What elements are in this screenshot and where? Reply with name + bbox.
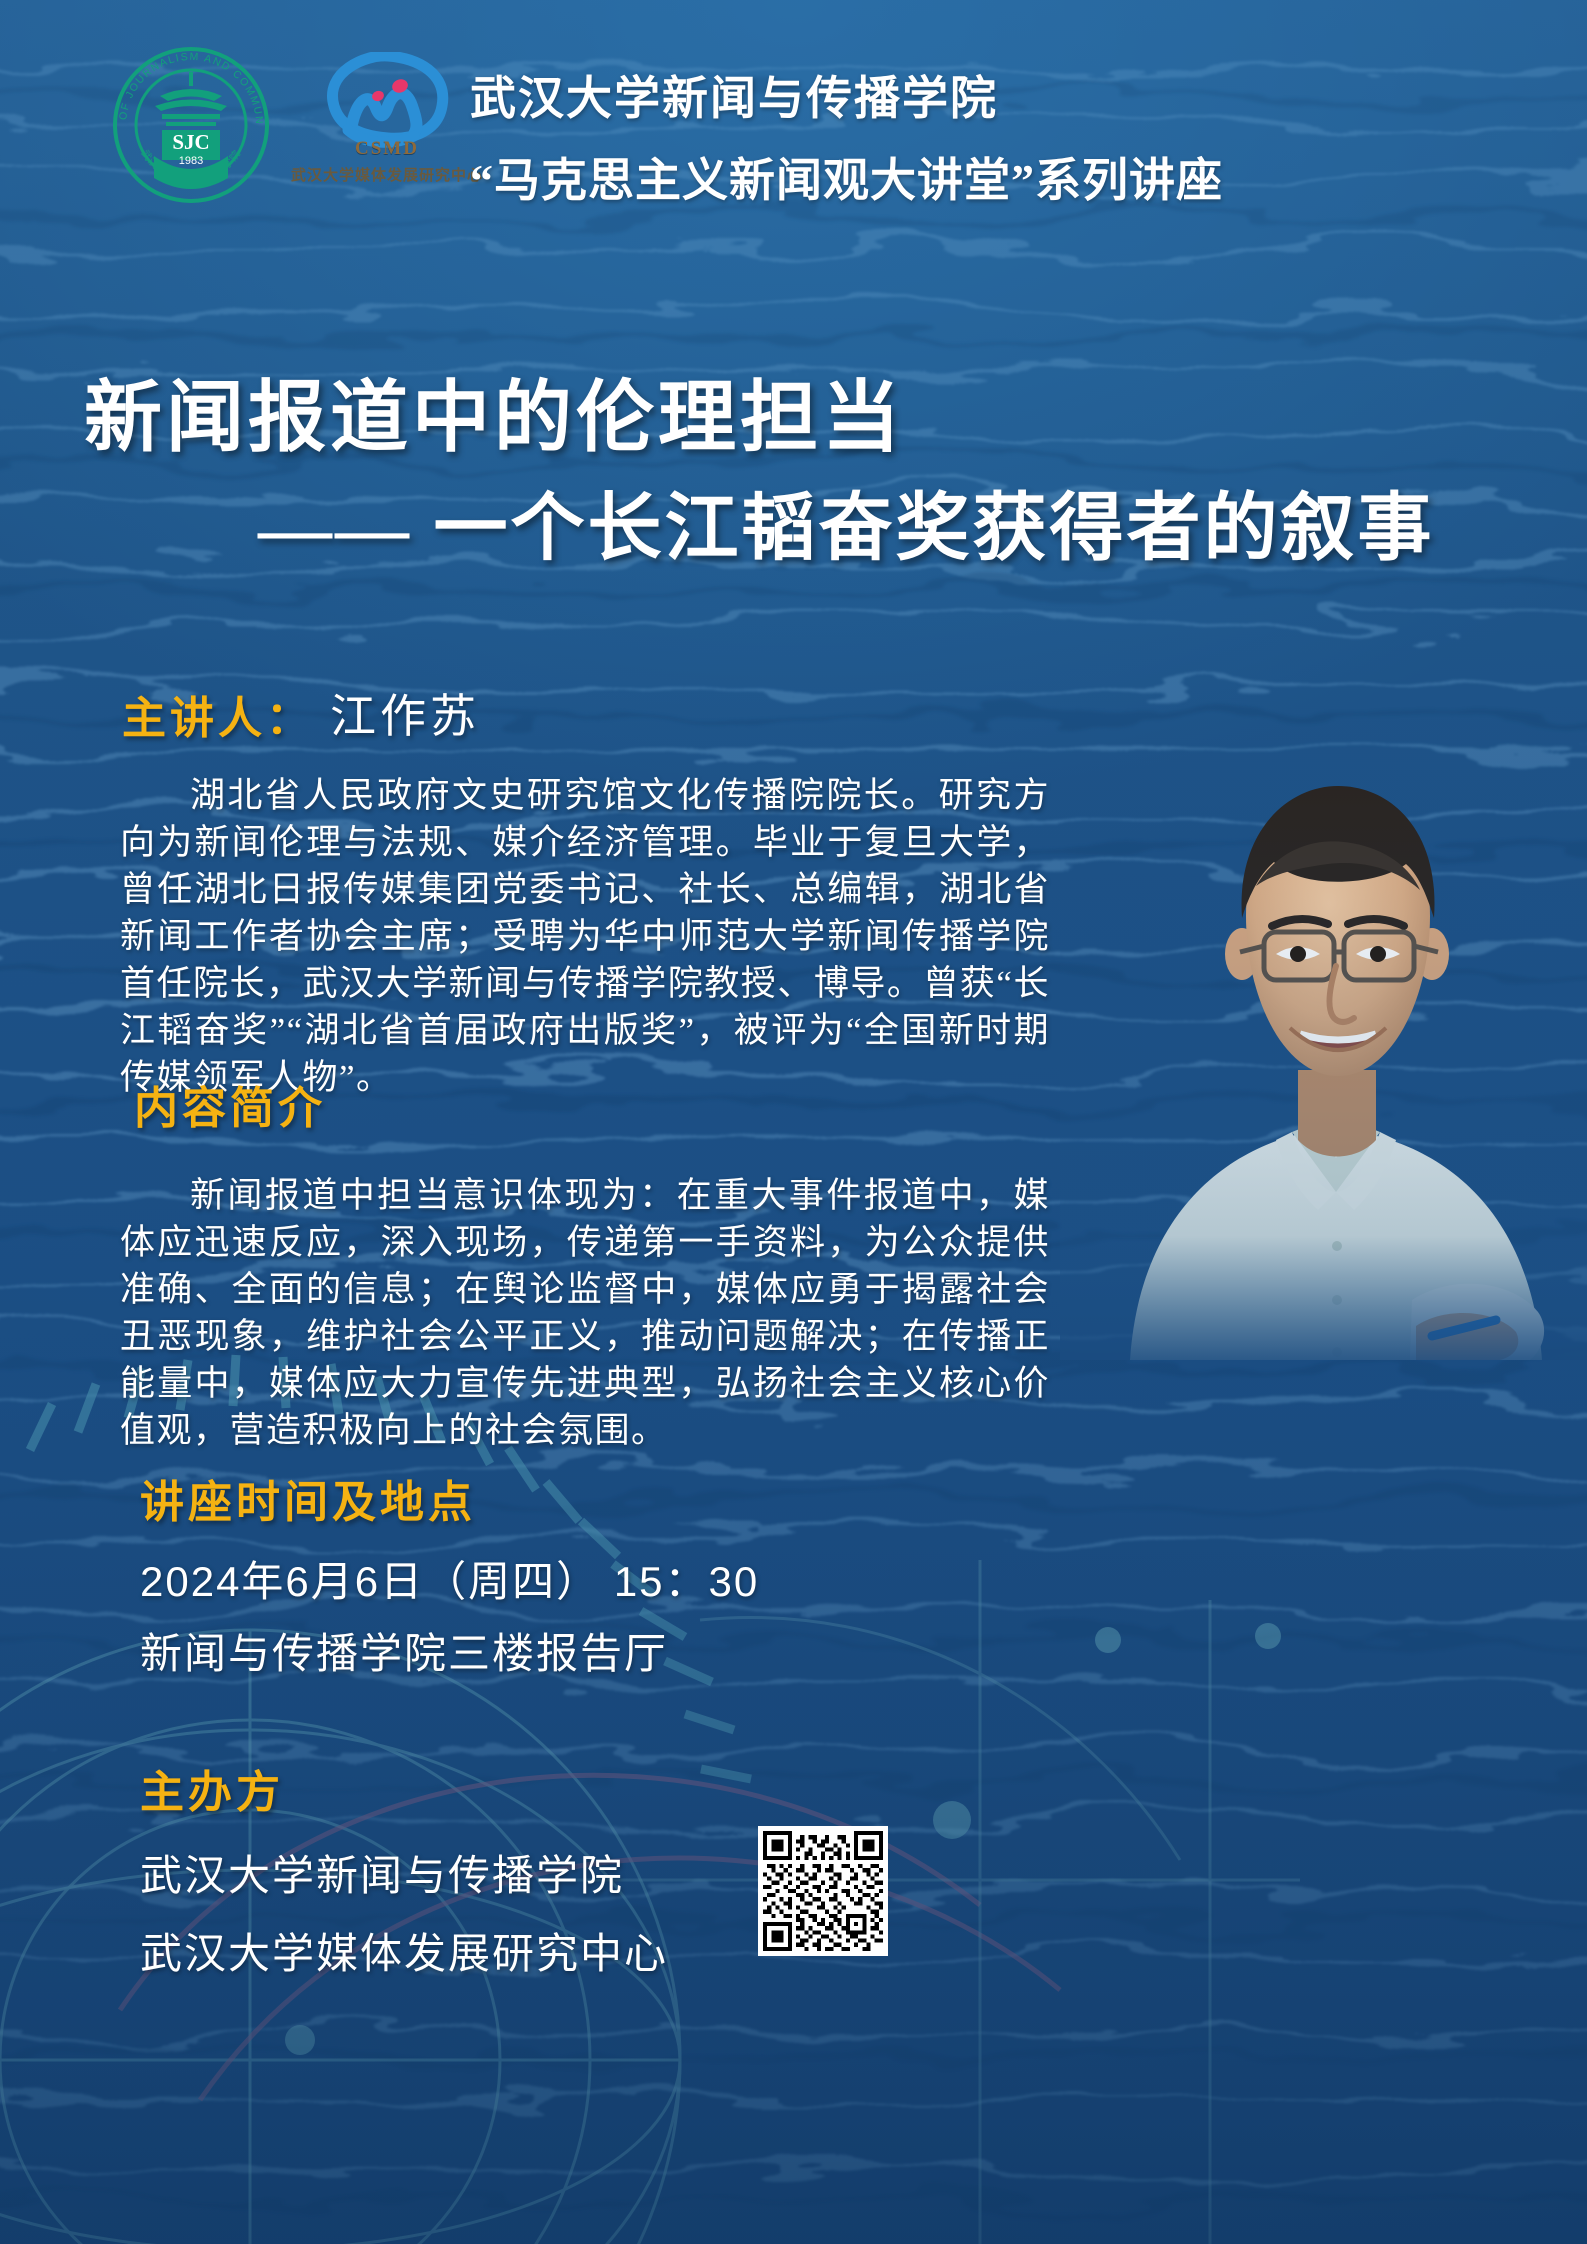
poster-root: SCHOOL OF JOURNALISM AND COMMUNICATION 武… <box>0 0 1587 2244</box>
csmd-acronym: CSMD <box>318 138 456 160</box>
intro-heading: 内容简介 <box>134 1072 326 1136</box>
host-heading: 主办方 <box>140 1756 284 1820</box>
svg-text:SJC: SJC <box>172 130 209 154</box>
intro-body: 新闻报道中担当意识体现为：在重大事件报道中，媒体应迅速反应，深入现场，传递第一手… <box>120 1172 1050 1454</box>
svg-text:SCHOOL OF JOURNALISM AND COMMU: SCHOOL OF JOURNALISM AND COMMUNICATION <box>110 44 265 126</box>
sjc-school-seal-icon: SCHOOL OF JOURNALISM AND COMMUNICATION 武… <box>110 44 272 206</box>
csmd-center-logo-icon: CSMD 武汉大学媒体发展研究中心 <box>318 52 456 198</box>
host-org-2: 武汉大学媒体发展研究中心 <box>140 1920 668 1981</box>
schedule-venue: 新闻与传播学院三楼报告厅 <box>140 1620 668 1681</box>
header-series: “马克思主义新闻观大讲堂”系列讲座 <box>470 144 1520 210</box>
lecture-subtitle: —— 一个长江韬奋奖获得者的叙事 <box>258 468 1435 575</box>
speaker-name: 江作苏 <box>330 680 480 746</box>
svg-text:1983: 1983 <box>179 155 203 167</box>
speaker-bio: 湖北省人民政府文史研究馆文化传播院院长。研究方向为新闻伦理与法规、媒介经济管理。… <box>120 772 1050 1101</box>
header-institution: 武汉大学新闻与传播学院 <box>470 62 1520 128</box>
lecture-title: 新闻报道中的伦理担当 <box>84 355 904 467</box>
speaker-portrait-photo <box>1060 740 1587 1360</box>
schedule-datetime: 2024年6月6日（周四） 15：30 <box>140 1548 759 1609</box>
header-text-block: 武汉大学新闻与传播学院 “马克思主义新闻观大讲堂”系列讲座 <box>470 62 1520 210</box>
csmd-chinese-name: 武汉大学媒体发展研究中心 <box>286 164 488 185</box>
qr-code-icon[interactable] <box>758 1826 888 1956</box>
schedule-heading: 讲座时间及地点 <box>140 1466 476 1530</box>
speaker-label: 主讲人： <box>122 682 314 746</box>
poster-header: SCHOOL OF JOURNALISM AND COMMUNICATION 武… <box>0 0 1587 250</box>
host-org-1: 武汉大学新闻与传播学院 <box>140 1842 624 1903</box>
